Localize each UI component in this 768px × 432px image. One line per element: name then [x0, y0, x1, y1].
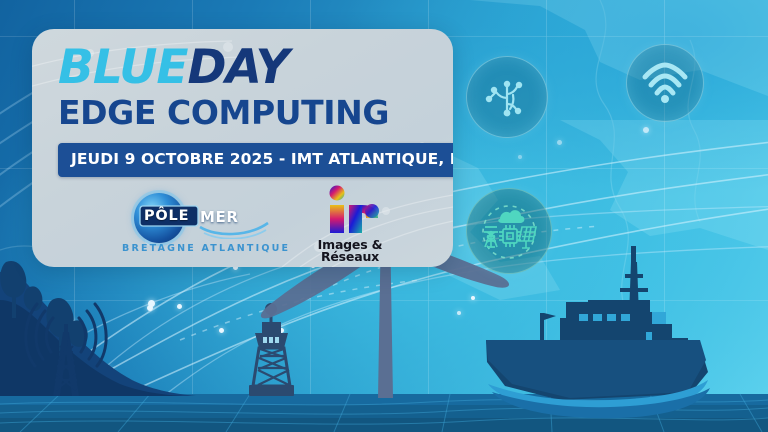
- date-location-text: JEUDI 9 OCTOBRE 2025 - IMT ATLANTIQUE, B…: [71, 150, 453, 168]
- network-nodes-icon: [466, 56, 548, 138]
- smart-grid-icon: [466, 188, 552, 274]
- event-info-card: BLUEDAY EDGE COMPUTING JEUDI 9 OCTOBRE 2…: [32, 29, 453, 267]
- logo-pole-mer: PÔLE MER BRETAGNE ATLANTIQUE: [118, 191, 293, 263]
- logo-images-et-reseaux: Images & Réseaux: [314, 185, 386, 267]
- event-poster: BLUEDAY EDGE COMPUTING JEUDI 9 OCTOBRE 2…: [0, 0, 768, 432]
- partner-logos: PÔLE MER BRETAGNE ATLANTIQUE: [32, 191, 453, 267]
- page-title: BLUEDAY: [58, 46, 427, 91]
- pole-mer-word-pole: PÔLE: [144, 208, 189, 224]
- pole-mer-word-mer: MER: [200, 208, 239, 226]
- title-subtitle: EDGE COMPUTING: [58, 96, 427, 130]
- pole-mer-tagline: BRETAGNE ATLANTIQUE: [122, 243, 290, 254]
- title-blue: BLUE: [58, 40, 187, 95]
- title-day: DAY: [187, 40, 288, 95]
- date-location-banner: JEUDI 9 OCTOBRE 2025 - IMT ATLANTIQUE, B…: [58, 143, 453, 177]
- wifi-icon: [626, 44, 704, 122]
- ir-monogram-icon: [320, 185, 382, 239]
- ir-label-line2: Réseaux: [314, 249, 386, 264]
